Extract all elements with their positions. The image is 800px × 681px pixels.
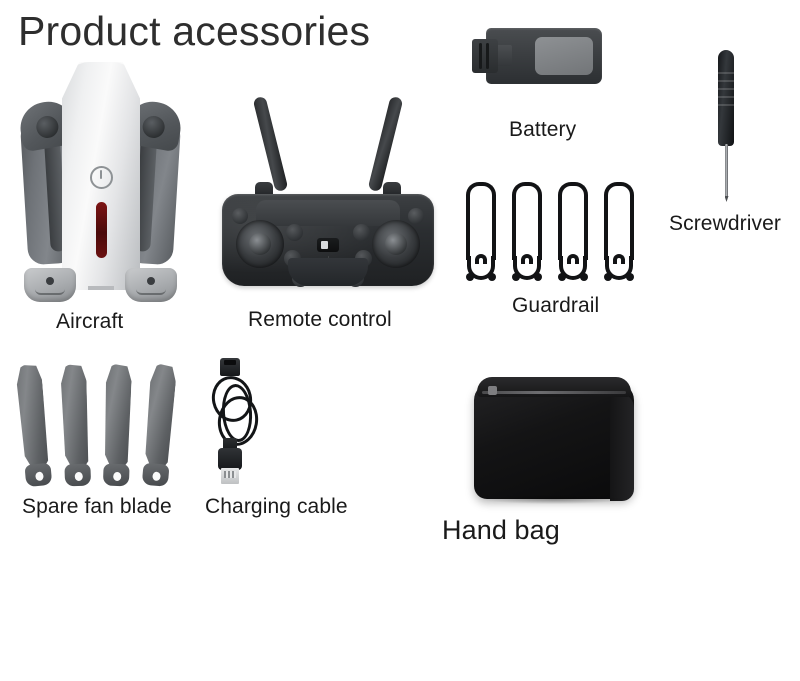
zipper-pull-icon (488, 386, 497, 395)
screwdriver-grip-2 (718, 80, 734, 82)
hand-bag-zipper (482, 391, 626, 394)
remote-antenna-right (368, 96, 404, 192)
screwdriver-grip-3 (718, 88, 734, 90)
fan-blade-4 (141, 363, 182, 487)
guardrail-frame (512, 182, 542, 260)
fan-blade-body (15, 363, 50, 471)
screwdriver-grip-5 (718, 104, 734, 106)
remote-button-1 (286, 224, 303, 241)
guardrail-clip (467, 256, 495, 280)
micro-usb-connector-icon (220, 358, 240, 376)
fan-blade-3 (102, 364, 136, 487)
remote-lower-panel (288, 258, 368, 286)
remote-power-switch (317, 238, 339, 252)
screwdriver-tip (725, 196, 729, 202)
battery-connector (472, 39, 498, 73)
guardrail-frame (604, 182, 634, 260)
remote-top-panel (256, 200, 400, 226)
hand-bag-side-panel (610, 393, 634, 501)
remote-body (222, 194, 434, 286)
remote-shoulder-button-right (408, 208, 424, 224)
aircraft-label: Aircraft (56, 310, 123, 334)
guardrail-image (466, 182, 636, 286)
battery-window-panel (535, 37, 593, 75)
hand-bag-body (474, 383, 634, 499)
screwdriver-label: Screwdriver (669, 212, 781, 236)
fan-blade-body (60, 364, 90, 471)
remote-control-label: Remote control (248, 308, 392, 332)
fan-blade-2 (60, 364, 94, 487)
hand-bag-image (474, 377, 634, 499)
page-title: Product acessories (18, 8, 370, 55)
hand-bag-label: Hand bag (442, 515, 560, 546)
guardrail-3 (558, 182, 588, 286)
remote-button-4 (353, 224, 370, 241)
guardrail-2 (512, 182, 542, 286)
remote-shoulder-button-left (232, 208, 248, 224)
product-accessories-poster: Product acessories Aircraft (0, 0, 800, 681)
fan-blade-body (142, 363, 177, 471)
screwdriver-grip-4 (718, 96, 734, 98)
charging-cable-image (206, 358, 276, 484)
remote-joystick-left (236, 220, 284, 268)
screwdriver-shaft (725, 144, 728, 198)
guardrail-clip (513, 256, 541, 280)
charging-cable-label: Charging cable (205, 495, 348, 519)
drone-motor-right (125, 268, 177, 302)
usb-a-plug-icon (221, 468, 239, 484)
drone-led-indicator (96, 202, 107, 258)
screwdriver-handle (718, 50, 734, 146)
screwdriver-image (706, 50, 746, 200)
guardrail-frame (466, 182, 496, 260)
drone-body (62, 62, 140, 290)
aircraft-image (18, 62, 183, 302)
fan-blade-1 (15, 363, 56, 487)
battery-image (472, 28, 602, 84)
spare-fan-blade-image (20, 364, 188, 486)
guardrail-clip (559, 256, 587, 280)
hand-bag-lid (477, 377, 631, 397)
guardrail-label: Guardrail (512, 294, 599, 318)
remote-antenna-left (253, 96, 289, 192)
battery-tab (496, 45, 512, 66)
remote-joystick-right (372, 220, 420, 268)
drone-motor-left (24, 268, 76, 302)
screwdriver-grip-1 (718, 72, 734, 74)
power-button-icon (90, 166, 113, 189)
usb-connector-body (218, 448, 242, 470)
guardrail-1 (466, 182, 496, 286)
spare-fan-blade-label: Spare fan blade (22, 495, 172, 519)
guardrail-frame (558, 182, 588, 260)
fan-blade-body (102, 364, 132, 471)
hand-bag-shadow (484, 495, 624, 504)
battery-label: Battery (509, 118, 576, 142)
guardrail-clip (605, 256, 633, 280)
remote-control-image (222, 96, 434, 291)
guardrail-4 (604, 182, 634, 286)
